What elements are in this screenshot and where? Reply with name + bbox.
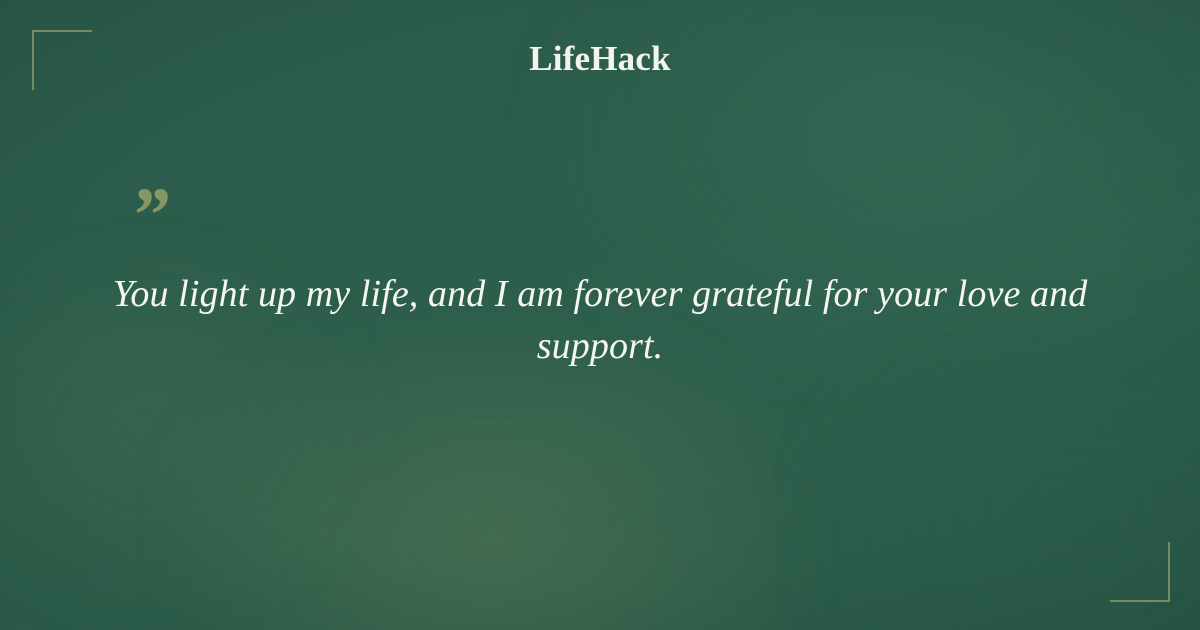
quote-text: You light up my life, and I am forever g… <box>100 268 1100 372</box>
quotation-mark-icon: ” <box>130 176 167 254</box>
brand-logo: LifeHack <box>0 41 1200 76</box>
corner-bracket-bottom-right-icon <box>1110 542 1170 602</box>
quote-card: LifeHack ” You light up my life, and I a… <box>0 0 1200 630</box>
